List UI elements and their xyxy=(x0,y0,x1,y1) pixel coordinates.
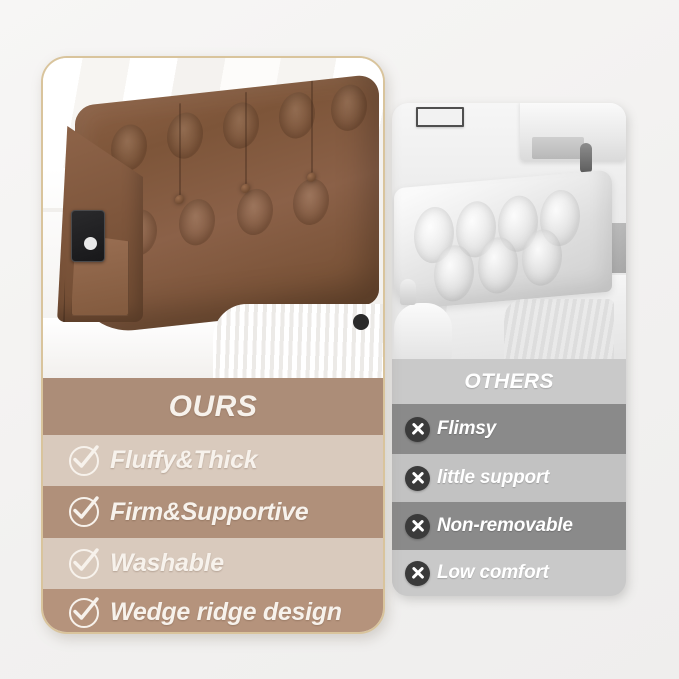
photo-nightstand xyxy=(394,303,452,359)
ours-feature-row[interactable]: Firm&Supportive xyxy=(43,486,383,538)
x-circle-icon xyxy=(405,466,430,491)
others-feature-row[interactable]: Non-removable xyxy=(392,502,626,550)
ours-feature-row[interactable]: Wedge ridge design xyxy=(43,589,383,634)
others-feature-label: little support xyxy=(437,467,549,489)
check-circle-icon xyxy=(69,598,99,628)
others-panel: OTHERS Flimsy little support Non-removab… xyxy=(392,103,626,596)
photo-picture-frame xyxy=(416,107,464,127)
check-circle-icon xyxy=(69,497,99,527)
others-header: OTHERS xyxy=(392,359,626,404)
others-feature-row[interactable]: little support xyxy=(392,454,626,502)
ours-product-photo xyxy=(43,58,383,378)
ours-feature-label: Firm&Supportive xyxy=(110,498,308,527)
pillow-tuft xyxy=(331,83,367,133)
others-feature-row[interactable]: Low comfort xyxy=(392,550,626,596)
x-circle-icon xyxy=(405,561,430,586)
others-feature-label: Non-removable xyxy=(437,515,573,537)
others-feature-label: Low comfort xyxy=(437,562,549,584)
others-feature-list: OTHERS Flimsy little support Non-removab… xyxy=(392,359,626,596)
check-circle-icon xyxy=(69,446,99,476)
pillow-seam xyxy=(311,81,313,173)
photo-tuft xyxy=(522,228,562,287)
photo-shelf xyxy=(520,103,626,161)
pillow-seam xyxy=(245,92,247,184)
check-circle-icon xyxy=(69,549,99,579)
ours-header: OURS xyxy=(43,378,383,435)
others-header-label: OTHERS xyxy=(464,370,553,394)
photo-tuft xyxy=(478,236,518,295)
pillow-tuft xyxy=(167,111,203,161)
pillow-seam xyxy=(179,103,181,195)
photo-white-wedge-pillow xyxy=(394,169,612,310)
photo-vase xyxy=(580,143,592,173)
pillow-tuft xyxy=(293,177,329,227)
comparison-infographic: OTHERS Flimsy little support Non-removab… xyxy=(0,0,679,679)
others-product-photo xyxy=(392,103,626,359)
ours-feature-list: OURS Fluffy&Thick Firm&Sup xyxy=(43,378,383,632)
photo-dark-object xyxy=(353,314,369,330)
photo-throw-blanket xyxy=(504,299,614,359)
pillow-tuft xyxy=(237,187,273,237)
pillow-tuft xyxy=(279,90,315,140)
pillow-tuft xyxy=(223,101,259,151)
x-circle-icon xyxy=(405,417,430,442)
ours-feature-label: Fluffy&Thick xyxy=(110,446,257,475)
pillow-tuft xyxy=(179,197,215,247)
pillow-button xyxy=(175,195,184,205)
x-circle-icon xyxy=(405,514,430,539)
photo-tuft xyxy=(434,244,474,303)
ours-feature-row[interactable]: Washable xyxy=(43,538,383,589)
others-feature-row[interactable]: Flimsy xyxy=(392,404,626,454)
ours-feature-row[interactable]: Fluffy&Thick xyxy=(43,435,383,486)
photo-nightstand-decor xyxy=(400,279,416,305)
ours-feature-label: Washable xyxy=(110,549,224,578)
ours-panel: OURS Fluffy&Thick Firm&Sup xyxy=(41,56,385,634)
others-feature-label: Flimsy xyxy=(437,418,496,440)
phone-in-pocket xyxy=(71,210,105,262)
ours-feature-label: Wedge ridge design xyxy=(110,598,342,627)
ours-header-label: OURS xyxy=(169,390,258,424)
